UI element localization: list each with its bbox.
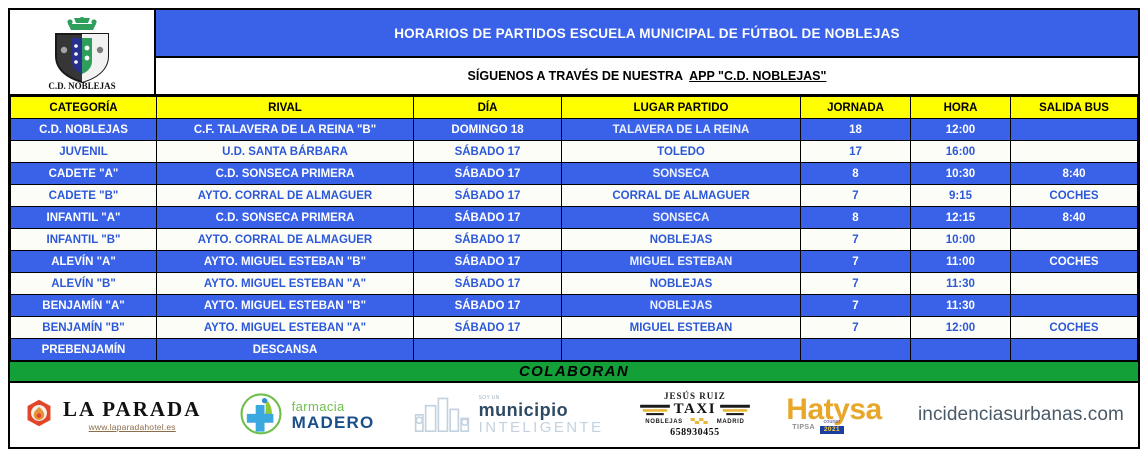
col-header-lugar-partido: LUGAR PARTIDO (562, 97, 801, 119)
table-row: JUVENIL U.D. SANTA BÁRBARA SÁBADO 17 TOL… (11, 141, 1138, 163)
cell-jornada: 7 (801, 185, 911, 207)
cell-lugar: SONSECA (562, 163, 801, 185)
svg-text:C.D. NOBLEJAS: C.D. NOBLEJAS (48, 81, 115, 91)
cell-bus: COCHES (1011, 317, 1138, 339)
cell-categoria: ALEVÍN "A" (11, 251, 157, 273)
cell-categoria: PREBENJAMÍN (11, 339, 157, 361)
cell-dia: DOMINGO 18 (414, 119, 562, 141)
cell-dia: SÁBADO 17 (414, 163, 562, 185)
sponsor-hatysa[interactable]: Hatysa TIPSA courier 2021 (786, 396, 881, 435)
table-row: PREBENJAMÍN DESCANSA (11, 339, 1138, 361)
cell-lugar: MIGUEL ESTEBAN (562, 317, 801, 339)
cell-hora: 11:30 (911, 295, 1011, 317)
col-header-hora: HORA (911, 97, 1011, 119)
taxi-phone: 658930455 (670, 428, 720, 438)
sponsors-strip: LA PARADA www.laparadahotel.es farmacia … (10, 383, 1138, 447)
cell-bus (1011, 119, 1138, 141)
cell-rival: DESCANSA (157, 339, 414, 361)
cell-bus (1011, 273, 1138, 295)
colaboran-band: COLABORAN (10, 361, 1138, 383)
cell-hora: 16:00 (911, 141, 1011, 163)
cell-jornada: 7 (801, 251, 911, 273)
cell-dia: SÁBADO 17 (414, 317, 562, 339)
table-body: C.D. NOBLEJAS C.F. TALAVERA DE LA REINA … (11, 119, 1138, 361)
cell-bus: COCHES (1011, 185, 1138, 207)
table-row: ALEVÍN "B" AYTO. MIGUEL ESTEBAN "A" SÁBA… (11, 273, 1138, 295)
courier-badge: courier 2021 (820, 420, 844, 434)
cell-categoria: BENJAMÍN "B" (11, 317, 157, 339)
cell-lugar: NOBLEJAS (562, 229, 801, 251)
cell-categoria: JUVENIL (11, 141, 157, 163)
la-parada-text: LA PARADA www.laparadahotel.es (63, 399, 201, 432)
cell-bus: COCHES (1011, 251, 1138, 273)
cell-rival: AYTO. MIGUEL ESTEBAN "A" (157, 317, 414, 339)
cell-rival: AYTO. MIGUEL ESTEBAN "B" (157, 295, 414, 317)
cell-jornada (801, 339, 911, 361)
flame-circle-icon (24, 398, 54, 433)
sponsor-incidencias-urbanas[interactable]: incidenciasurbanas.com (918, 404, 1124, 426)
cell-dia: SÁBADO 17 (414, 251, 562, 273)
cell-lugar: TOLEDO (562, 141, 801, 163)
app-link[interactable]: APP "C.D. NOBLEJAS" (689, 69, 826, 83)
taxi-cities: NOBLEJAS MADRID (645, 418, 744, 426)
table-row: CADETE "A" C.D. SONSECA PRIMERA SÁBADO 1… (11, 163, 1138, 185)
cell-bus: 8:40 (1011, 207, 1138, 229)
table-row: BENJAMÍN "B" AYTO. MIGUEL ESTEBAN "A" SÁ… (11, 317, 1138, 339)
hatysa-badges: TIPSA courier 2021 (786, 420, 844, 434)
col-header-dia: DÍA (414, 97, 562, 119)
la-parada-name: LA PARADA (63, 399, 201, 420)
cell-lugar: CORRAL DE ALMAGUER (562, 185, 801, 207)
club-crest-icon: C.D. NOBLEJAS (34, 12, 130, 92)
cell-categoria: CADETE "B" (11, 185, 157, 207)
cell-dia: SÁBADO 17 (414, 273, 562, 295)
cell-categoria: INFANTIL "A" (11, 207, 157, 229)
cell-jornada: 7 (801, 273, 911, 295)
col-header-categoria: CATEGORÍA (11, 97, 157, 119)
cell-categoria: INFANTIL "B" (11, 229, 157, 251)
cell-lugar: TALAVERA DE LA REINA (562, 119, 801, 141)
cell-jornada: 8 (801, 207, 911, 229)
table-row: C.D. NOBLEJAS C.F. TALAVERA DE LA REINA … (11, 119, 1138, 141)
cell-lugar: NOBLEJAS (562, 273, 801, 295)
cell-jornada: 8 (801, 163, 911, 185)
farmacia-line1: farmacia (292, 400, 375, 413)
club-crest-cell: C.D. NOBLEJAS (10, 10, 156, 96)
match-schedule-table: CATEGORÍA RIVAL DÍA LUGAR PARTIDO JORNAD… (10, 96, 1138, 361)
cell-hora (911, 339, 1011, 361)
sponsor-farmacia-madero[interactable]: farmacia MADERO (238, 390, 375, 441)
cell-rival: C.D. SONSECA PRIMERA (157, 207, 414, 229)
municipio-line2: INTELIGENTE (479, 420, 604, 435)
cell-jornada: 7 (801, 295, 911, 317)
cell-rival: U.D. SANTA BÁRBARA (157, 141, 414, 163)
la-parada-url[interactable]: www.laparadahotel.es (89, 422, 176, 432)
municipio-line1: municipio (479, 401, 604, 419)
cell-categoria: BENJAMÍN "A" (11, 295, 157, 317)
sponsor-la-parada[interactable]: LA PARADA www.laparadahotel.es (24, 398, 201, 433)
table-row: CADETE "B" AYTO. CORRAL DE ALMAGUER SÁBA… (11, 185, 1138, 207)
cell-dia (414, 339, 562, 361)
courier-year-chip: 2021 (820, 426, 844, 435)
sponsor-taxi-jesus-ruiz[interactable]: JESÚS RUIZ TAXI NOBLEJAS (640, 392, 750, 438)
cell-rival: AYTO. CORRAL DE ALMAGUER (157, 229, 414, 251)
cell-hora: 12:15 (911, 207, 1011, 229)
taxi-owner-name: JESÚS RUIZ (664, 392, 726, 401)
municipio-text: SOY UN municipio INTELIGENTE (479, 396, 604, 435)
cell-dia: SÁBADO 17 (414, 207, 562, 229)
cell-jornada: 7 (801, 317, 911, 339)
cell-dia: SÁBADO 17 (414, 141, 562, 163)
tipsa-label: TIPSA (792, 424, 815, 431)
cell-hora: 10:00 (911, 229, 1011, 251)
poster-sheet: C.D. NOBLEJAS HORARIOS DE PARTIDOS ESCUE… (8, 8, 1140, 449)
cell-lugar: NOBLEJAS (562, 295, 801, 317)
table-row: INFANTIL "B" AYTO. CORRAL DE ALMAGUER SÁ… (11, 229, 1138, 251)
cell-rival: AYTO. MIGUEL ESTEBAN "A" (157, 273, 414, 295)
cell-hora: 11:30 (911, 273, 1011, 295)
cell-bus (1011, 229, 1138, 251)
cell-categoria: ALEVÍN "B" (11, 273, 157, 295)
cell-categoria: C.D. NOBLEJAS (11, 119, 157, 141)
farmacia-line2: MADERO (292, 414, 375, 431)
cell-dia: SÁBADO 17 (414, 185, 562, 207)
cell-hora: 9:15 (911, 185, 1011, 207)
cell-rival: AYTO. MIGUEL ESTEBAN "B" (157, 251, 414, 273)
cell-hora: 12:00 (911, 317, 1011, 339)
table-head: CATEGORÍA RIVAL DÍA LUGAR PARTIDO JORNAD… (11, 97, 1138, 119)
taxi-checker-icon (690, 418, 710, 426)
col-header-jornada: JORNADA (801, 97, 911, 119)
cell-jornada: 7 (801, 229, 911, 251)
taxi-wings-icon: TAXI (640, 402, 750, 417)
cell-lugar (562, 339, 801, 361)
table-row: ALEVÍN "A" AYTO. MIGUEL ESTEBAN "B" SÁBA… (11, 251, 1138, 273)
header-row: CATEGORÍA RIVAL DÍA LUGAR PARTIDO JORNAD… (11, 97, 1138, 119)
poster-title: HORARIOS DE PARTIDOS ESCUELA MUNICIPAL D… (156, 10, 1138, 58)
cell-hora: 11:00 (911, 251, 1011, 273)
cell-lugar: SONSECA (562, 207, 801, 229)
poster-header: C.D. NOBLEJAS HORARIOS DE PARTIDOS ESCUE… (10, 10, 1138, 96)
cell-hora: 12:00 (911, 119, 1011, 141)
col-header-rival: RIVAL (157, 97, 414, 119)
cell-categoria: CADETE "A" (11, 163, 157, 185)
cell-rival: AYTO. CORRAL DE ALMAGUER (157, 185, 414, 207)
table-row: BENJAMÍN "A" AYTO. MIGUEL ESTEBAN "B" SÁ… (11, 295, 1138, 317)
sponsor-municipio-inteligente[interactable]: SOY UN municipio INTELIGENTE (411, 393, 604, 438)
schedule-poster: C.D. NOBLEJAS HORARIOS DE PARTIDOS ESCUE… (0, 0, 1148, 457)
taxi-city-2: MADRID (717, 419, 745, 425)
cell-bus (1011, 141, 1138, 163)
cell-hora: 10:30 (911, 163, 1011, 185)
cell-jornada: 18 (801, 119, 911, 141)
header-text-block: HORARIOS DE PARTIDOS ESCUELA MUNICIPAL D… (156, 10, 1138, 96)
table-row: INFANTIL "A" C.D. SONSECA PRIMERA SÁBADO… (11, 207, 1138, 229)
poster-subtitle: SÍGUENOS A TRAVÉS DE NUESTRA APP "C.D. N… (156, 58, 1138, 94)
col-header-salida-bus: SALIDA BUS (1011, 97, 1138, 119)
cell-dia: SÁBADO 17 (414, 295, 562, 317)
cell-dia: SÁBADO 17 (414, 229, 562, 251)
cell-rival: C.F. TALAVERA DE LA REINA "B" (157, 119, 414, 141)
subtitle-lead: SÍGUENOS A TRAVÉS DE NUESTRA (468, 69, 684, 83)
cell-jornada: 17 (801, 141, 911, 163)
taxi-word: TAXI (674, 402, 716, 417)
cell-bus: 8:40 (1011, 163, 1138, 185)
cell-rival: C.D. SONSECA PRIMERA (157, 163, 414, 185)
taxi-city-1: NOBLEJAS (645, 419, 682, 425)
cell-lugar: MIGUEL ESTEBAN (562, 251, 801, 273)
farmacia-text: farmacia MADERO (292, 400, 375, 431)
cell-bus (1011, 295, 1138, 317)
city-skyline-icon (411, 393, 473, 438)
cell-bus (1011, 339, 1138, 361)
pharmacy-cross-icon (238, 390, 284, 441)
